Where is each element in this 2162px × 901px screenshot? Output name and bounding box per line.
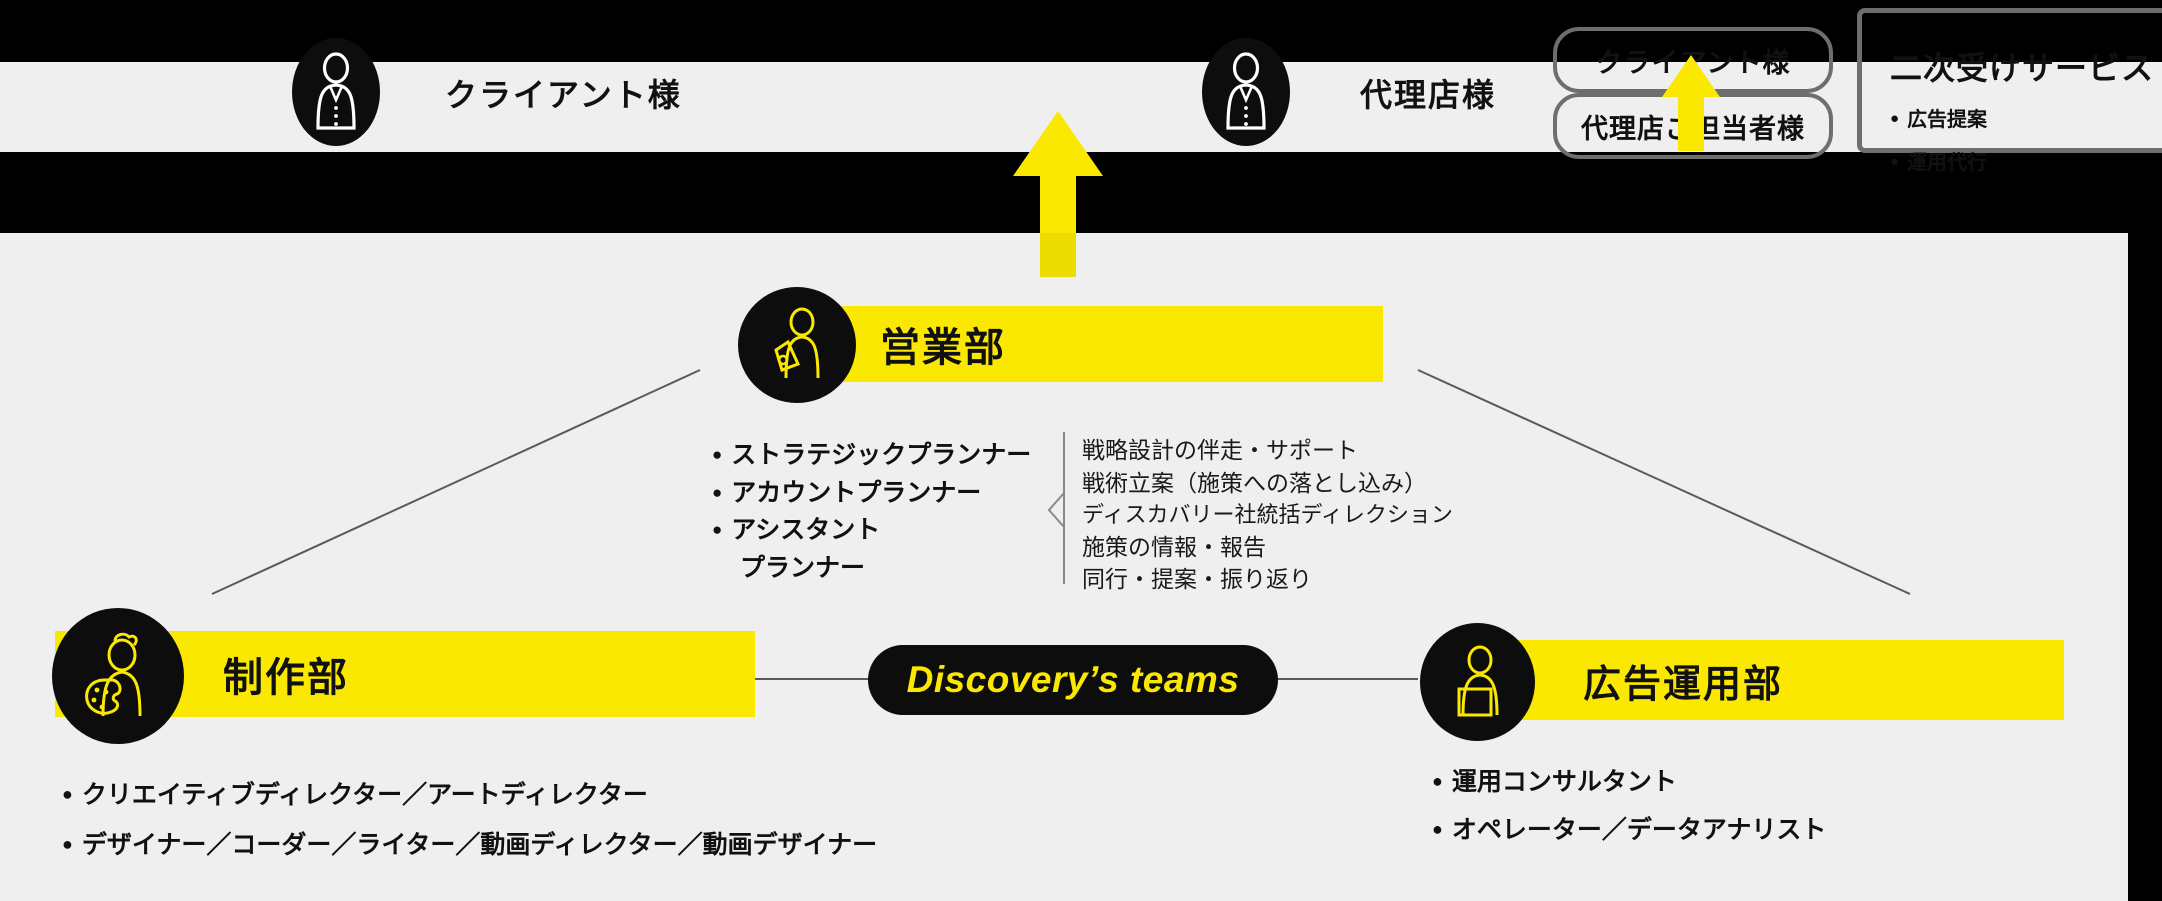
discovery-teams-pill[interactable]: Discovery’s teams — [868, 645, 1278, 715]
sales-dept-title: 営業部 — [880, 315, 1006, 373]
secondary-service-item: ●広告提案 — [1890, 103, 2162, 132]
client-chip[interactable]: クライアント様 — [290, 62, 990, 124]
secondary-service-title: 二次受けサービス — [1890, 43, 2162, 89]
sales-service-item: ディスカバリー社統括ディレクション — [1082, 499, 1453, 530]
bullet-dot: ● — [712, 520, 722, 539]
production-items-list: ●クリエイティブディレクター／アートディレクター ●デザイナー／コーダー／ライタ… — [62, 780, 877, 861]
production-dept-title: 制作部 — [223, 645, 349, 703]
person-suit-icon-agency — [1202, 38, 1290, 146]
adsops-item: ●オペレーター／データアナリスト — [1432, 815, 1826, 847]
sales-brace-icon — [1046, 492, 1066, 528]
sales-service-item: 戦術立案（施策への落とし込み） — [1082, 467, 1453, 500]
production-item: ●クリエイティブディレクター／アートディレクター — [62, 780, 877, 812]
adsops-item: ●運用コンサルタント — [1432, 767, 1826, 799]
discovery-teams-label: Discovery’s teams — [907, 659, 1240, 701]
bullet-dot: ● — [1890, 153, 1899, 170]
arrow-main-stub — [1040, 233, 1076, 277]
sales-role-item: ●アシスタント — [712, 512, 1031, 550]
arrow-up-secondary-icon — [1660, 53, 1722, 153]
client-chip-label: クライアント様 — [445, 70, 682, 116]
sales-roles-list: ●ストラテジックプランナー ●アカウントプランナー ●アシスタント プランナー — [712, 437, 1031, 587]
secondary-service-box[interactable]: 二次受けサービス ●広告提案 ●運用代行 — [1857, 8, 2162, 153]
person-desk-icon — [1420, 623, 1535, 741]
slide-canvas: クライアント様 代理店様 クライアント様 代理店ご担当者様 二次 — [0, 0, 2162, 901]
bullet-dot: ● — [62, 784, 73, 804]
person-presenting-icon — [738, 287, 856, 403]
person-presenting-glyph — [764, 306, 830, 384]
artist-palette-glyph — [79, 630, 157, 722]
adsops-items-list: ●運用コンサルタント ●オペレーター／データアナリスト — [1432, 767, 1826, 846]
sales-role-item: プランナー — [712, 550, 1031, 588]
person-suit-glyph — [1220, 52, 1272, 132]
arrow-up-secondary-glyph — [1660, 53, 1722, 153]
sales-service-item: 施策の情報・報告 — [1082, 531, 1453, 564]
bullet-dot: ● — [712, 483, 722, 502]
bullet-dot: ● — [1432, 819, 1443, 839]
sales-role-item: ●ストラテジックプランナー — [712, 437, 1031, 475]
bullet-dot: ● — [1890, 110, 1899, 127]
adsops-dept-bar[interactable]: 広告運用部 — [1443, 640, 2064, 720]
sales-role-item: ●アカウントプランナー — [712, 475, 1031, 513]
adsops-dept-title: 広告運用部 — [1583, 653, 1783, 708]
sales-services-list: 戦略設計の伴走・サポート 戦術立案（施策への落とし込み） ディスカバリー社統括デ… — [1082, 434, 1453, 596]
person-suit-icon-client — [292, 38, 380, 146]
sales-service-item: 同行・提案・振り返り — [1082, 563, 1453, 596]
person-suit-glyph — [310, 52, 362, 132]
bullet-dot: ● — [62, 834, 73, 854]
secondary-service-item: ●運用代行 — [1890, 146, 2162, 175]
bullet-dot: ● — [1432, 771, 1443, 791]
production-item: ●デザイナー／コーダー／ライター／動画ディレクター／動画デザイナー — [62, 830, 877, 862]
bullet-dot: ● — [712, 445, 722, 464]
artist-palette-icon — [52, 608, 184, 744]
agency-chip-label: 代理店様 — [1360, 70, 1496, 116]
person-desk-glyph — [1446, 643, 1510, 721]
sales-service-item: 戦略設計の伴走・サポート — [1082, 434, 1453, 467]
